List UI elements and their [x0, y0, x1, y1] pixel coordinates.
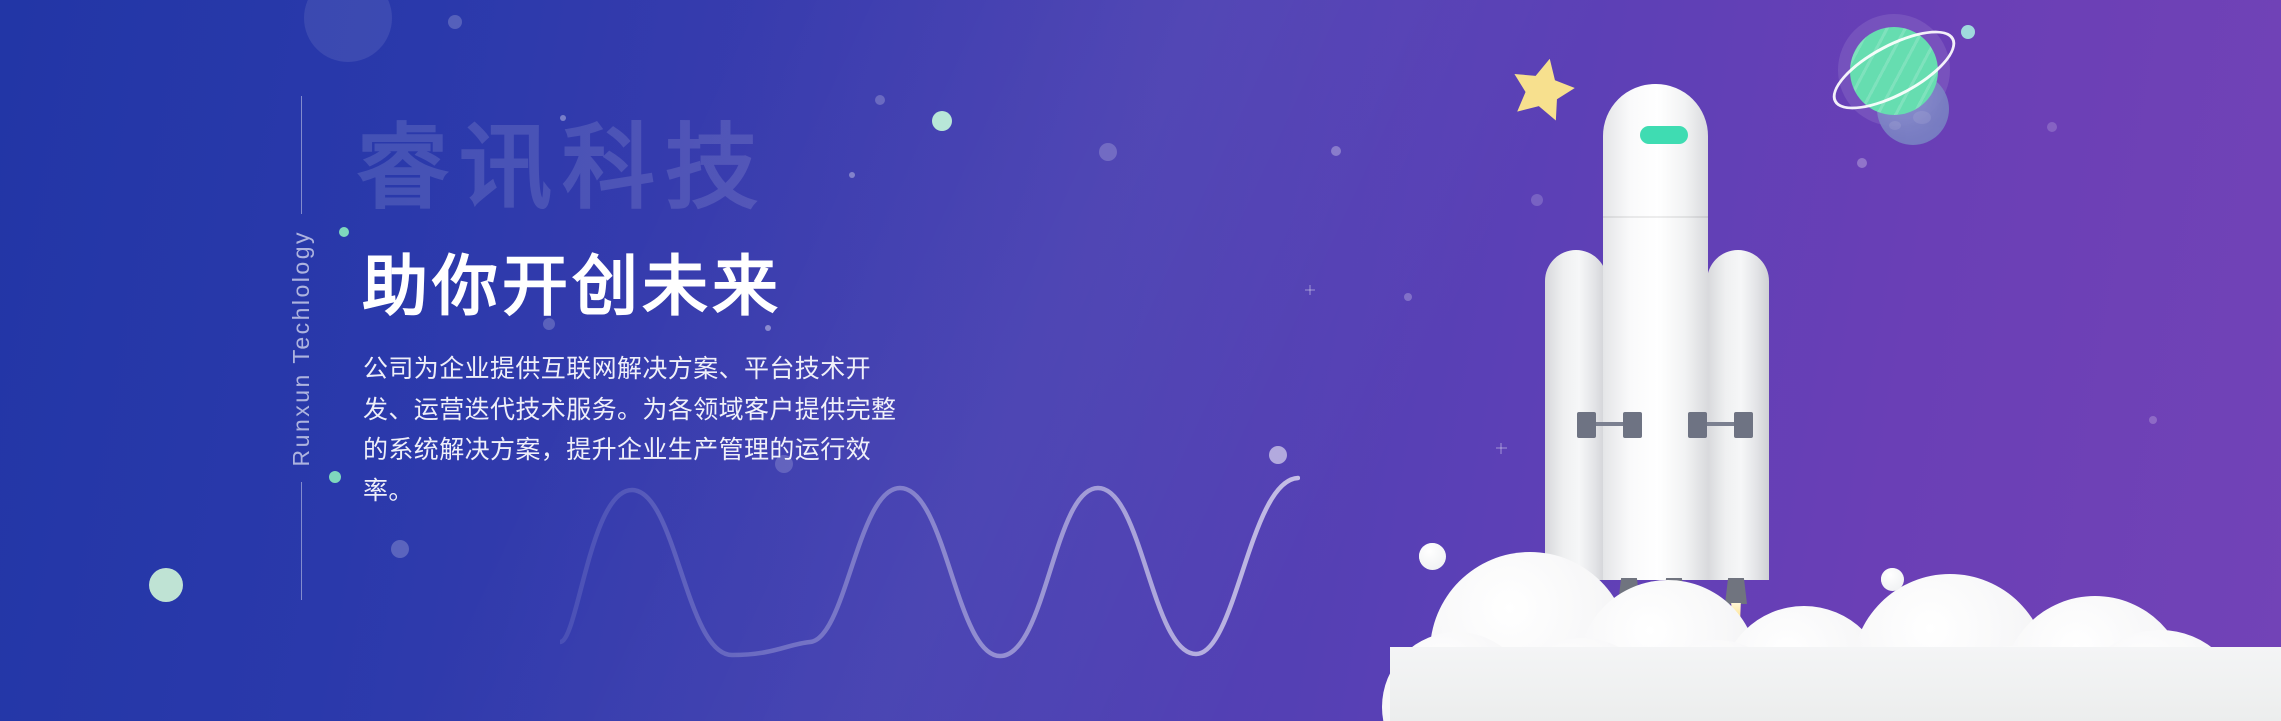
- decor-dot: [1331, 146, 1341, 156]
- decor-dot: [875, 95, 885, 105]
- decor-dot: [391, 540, 409, 558]
- rail-line-bottom: [301, 482, 302, 600]
- decor-dot: [149, 568, 183, 602]
- hero-banner: Runxun Techlology 睿讯科技 助你开创未来 公司为企业提供互联网…: [0, 0, 2281, 721]
- rocket-clamp: [1623, 412, 1642, 438]
- rocket-clamp: [1688, 412, 1707, 438]
- decor-dot: [849, 172, 855, 178]
- decor-dot: [304, 0, 392, 62]
- rocket-clamp-bar: [1593, 422, 1627, 426]
- decor-dot: [765, 325, 771, 331]
- rocket-clamp-bar: [1704, 422, 1738, 426]
- decor-cross-icon: [1305, 285, 1315, 295]
- rocket-body: [1603, 84, 1708, 580]
- decor-dot: [448, 15, 462, 29]
- rail-line-top: [301, 96, 302, 214]
- decor-dot: [932, 111, 952, 131]
- moon-crater: [1913, 111, 1931, 124]
- brand-vertical-text: Runxun Techlology: [288, 214, 315, 482]
- rocket-clamp: [1734, 412, 1753, 438]
- rocket-clamp: [1577, 412, 1596, 438]
- rocket-window: [1640, 126, 1688, 144]
- rocket-body-seam: [1603, 216, 1708, 218]
- decor-dot: [329, 471, 341, 483]
- cloud-bubble: [1881, 568, 1904, 591]
- brand-rail: Runxun Techlology: [286, 96, 316, 626]
- decor-dot: [339, 227, 349, 237]
- exhaust-clouds-icon: [1390, 530, 2281, 721]
- decor-dot: [1099, 143, 1117, 161]
- cloud-bubble: [1419, 543, 1446, 570]
- sine-wave-icon: [560, 430, 1300, 660]
- cloud-base: [1390, 647, 2281, 721]
- rocket-icon: [1485, 70, 1825, 590]
- moon-crater: [1889, 121, 1901, 130]
- ghost-company-name: 睿讯科技: [356, 122, 768, 215]
- page-title: 助你开创未来: [362, 253, 782, 319]
